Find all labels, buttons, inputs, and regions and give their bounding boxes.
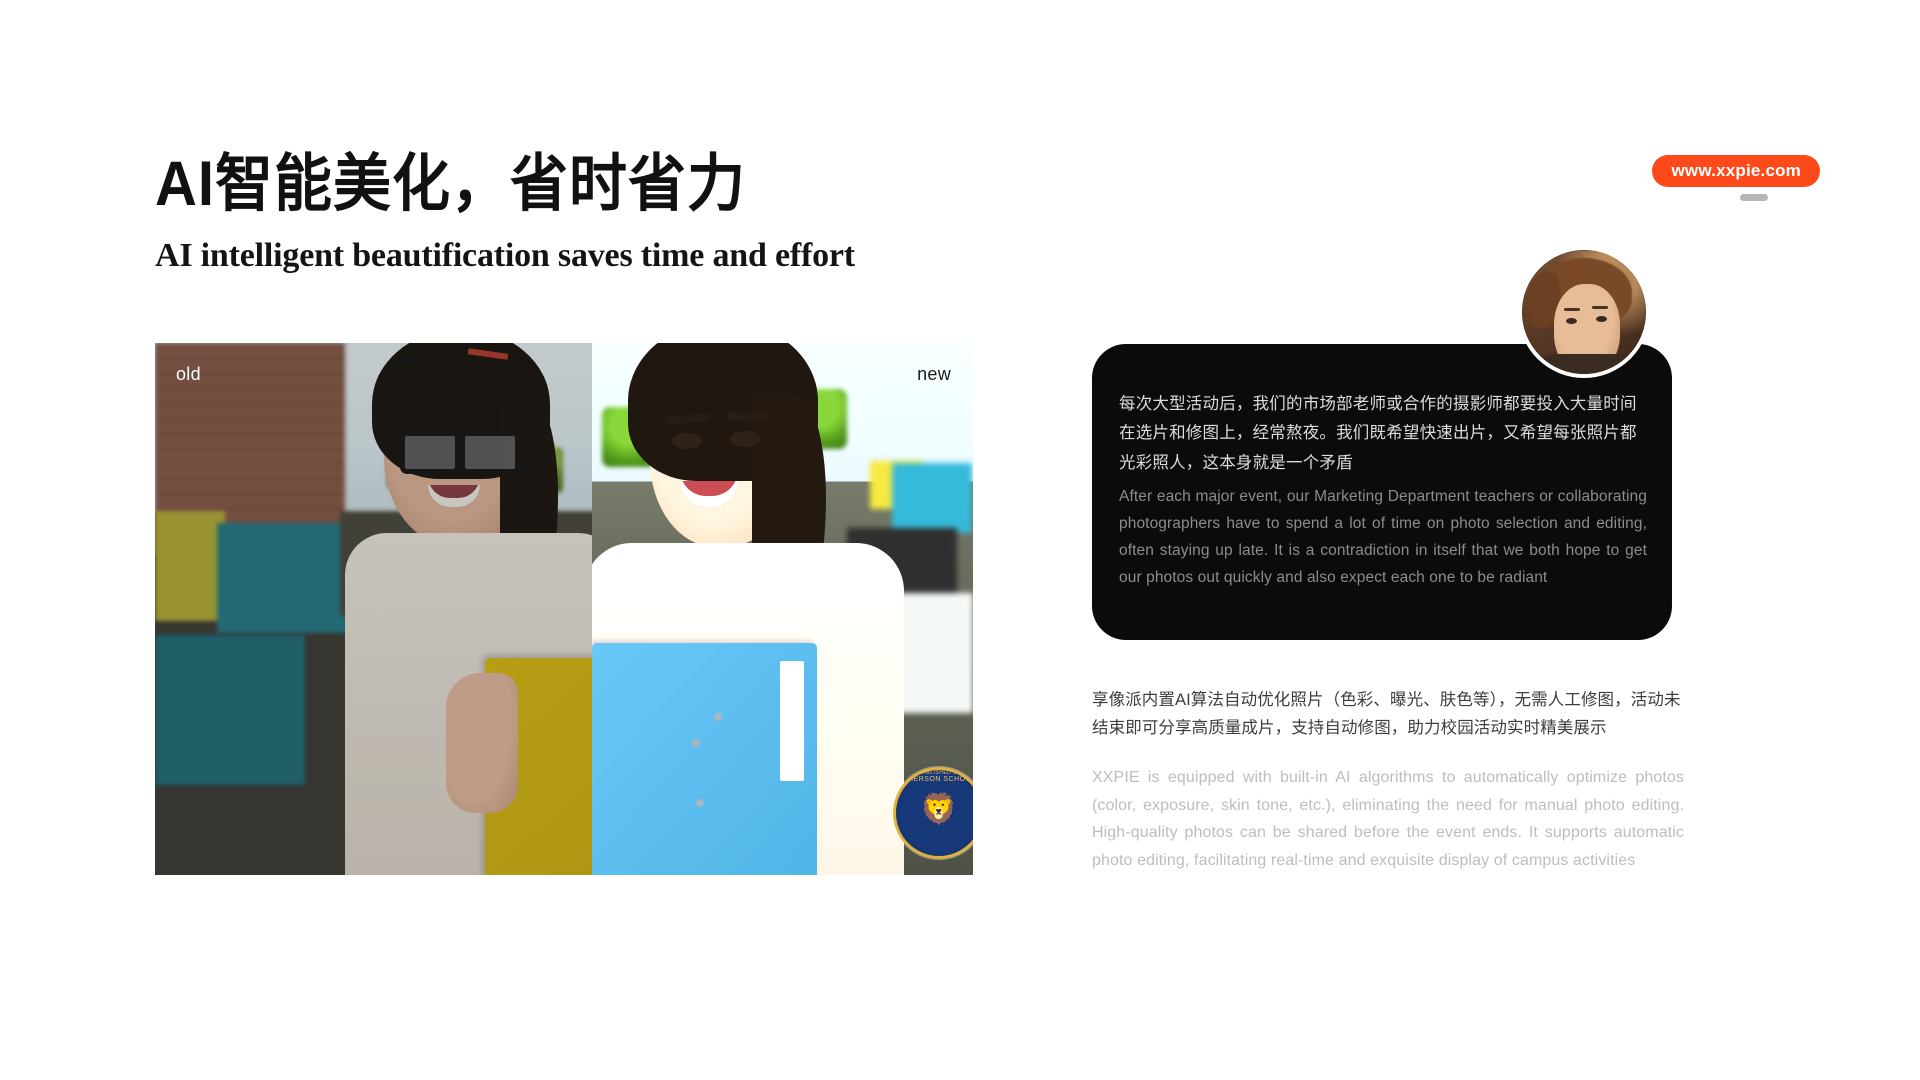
quote-text-cn: 每次大型活动后，我们的市场部老师或合作的摄影师都要投入大量时间在选片和修图上，经…: [1119, 390, 1647, 478]
avatar-eye: [1596, 316, 1607, 322]
decorative-dash: [1740, 194, 1768, 201]
teal-panel: [155, 635, 305, 785]
person-new: [602, 343, 892, 875]
photo-old[interactable]: old: [155, 343, 592, 875]
glasses-icon: [400, 431, 520, 467]
teal-panel: [892, 463, 972, 533]
avatar-eye: [1566, 318, 1577, 324]
rivet: [692, 739, 700, 747]
binder-label: [780, 661, 804, 781]
body-text-cn: 享像派内置AI算法自动优化照片（色彩、曝光、肤色等），无需人工修图，活动未结束即…: [1092, 686, 1684, 743]
hand: [446, 673, 518, 813]
avatar-eyebrow: [1592, 306, 1608, 309]
rivet: [714, 713, 722, 721]
eye: [730, 431, 760, 447]
page-title: AI智能美化，省时省力: [155, 150, 1105, 220]
school-emblem-icon: EMERSON SCHOOL 🦁 ESTABLISHED 1892: [893, 767, 973, 859]
person-old: [350, 343, 590, 875]
rivet: [696, 799, 704, 807]
slide-root: AI智能美化，省时省力 AI intelligent beautificatio…: [0, 0, 1920, 1080]
photo-old-image: [155, 343, 592, 875]
page-subtitle: AI intelligent beautification saves time…: [155, 237, 1105, 275]
label-old: old: [176, 365, 201, 383]
body-text-en: XXPIE is equipped with built-in AI algor…: [1092, 764, 1684, 874]
eye: [672, 433, 702, 449]
photo-new[interactable]: EMERSON SCHOOL 🦁 ESTABLISHED 1892 new: [592, 343, 973, 875]
avatar-eyebrow: [1564, 308, 1580, 311]
label-new: new: [917, 365, 951, 383]
glasses-bridge: [400, 357, 414, 362]
photo-new-image: EMERSON SCHOOL 🦁 ESTABLISHED 1892: [592, 343, 973, 875]
title-block: AI智能美化，省时省力 AI intelligent beautificatio…: [155, 150, 1105, 275]
teal-panel: [217, 523, 347, 633]
quote-text-en: After each major event, our Marketing De…: [1119, 483, 1647, 592]
quote-card: 每次大型活动后，我们的市场部老师或合作的摄影师都要投入大量时间在选片和修图上，经…: [1092, 344, 1672, 640]
yellow-panel: [155, 511, 225, 621]
emblem-bottom-text: ESTABLISHED 1892: [896, 770, 973, 851]
avatar: [1518, 246, 1650, 378]
before-after-comparison[interactable]: old: [155, 343, 973, 875]
site-url-badge[interactable]: www.xxpie.com: [1652, 155, 1820, 187]
